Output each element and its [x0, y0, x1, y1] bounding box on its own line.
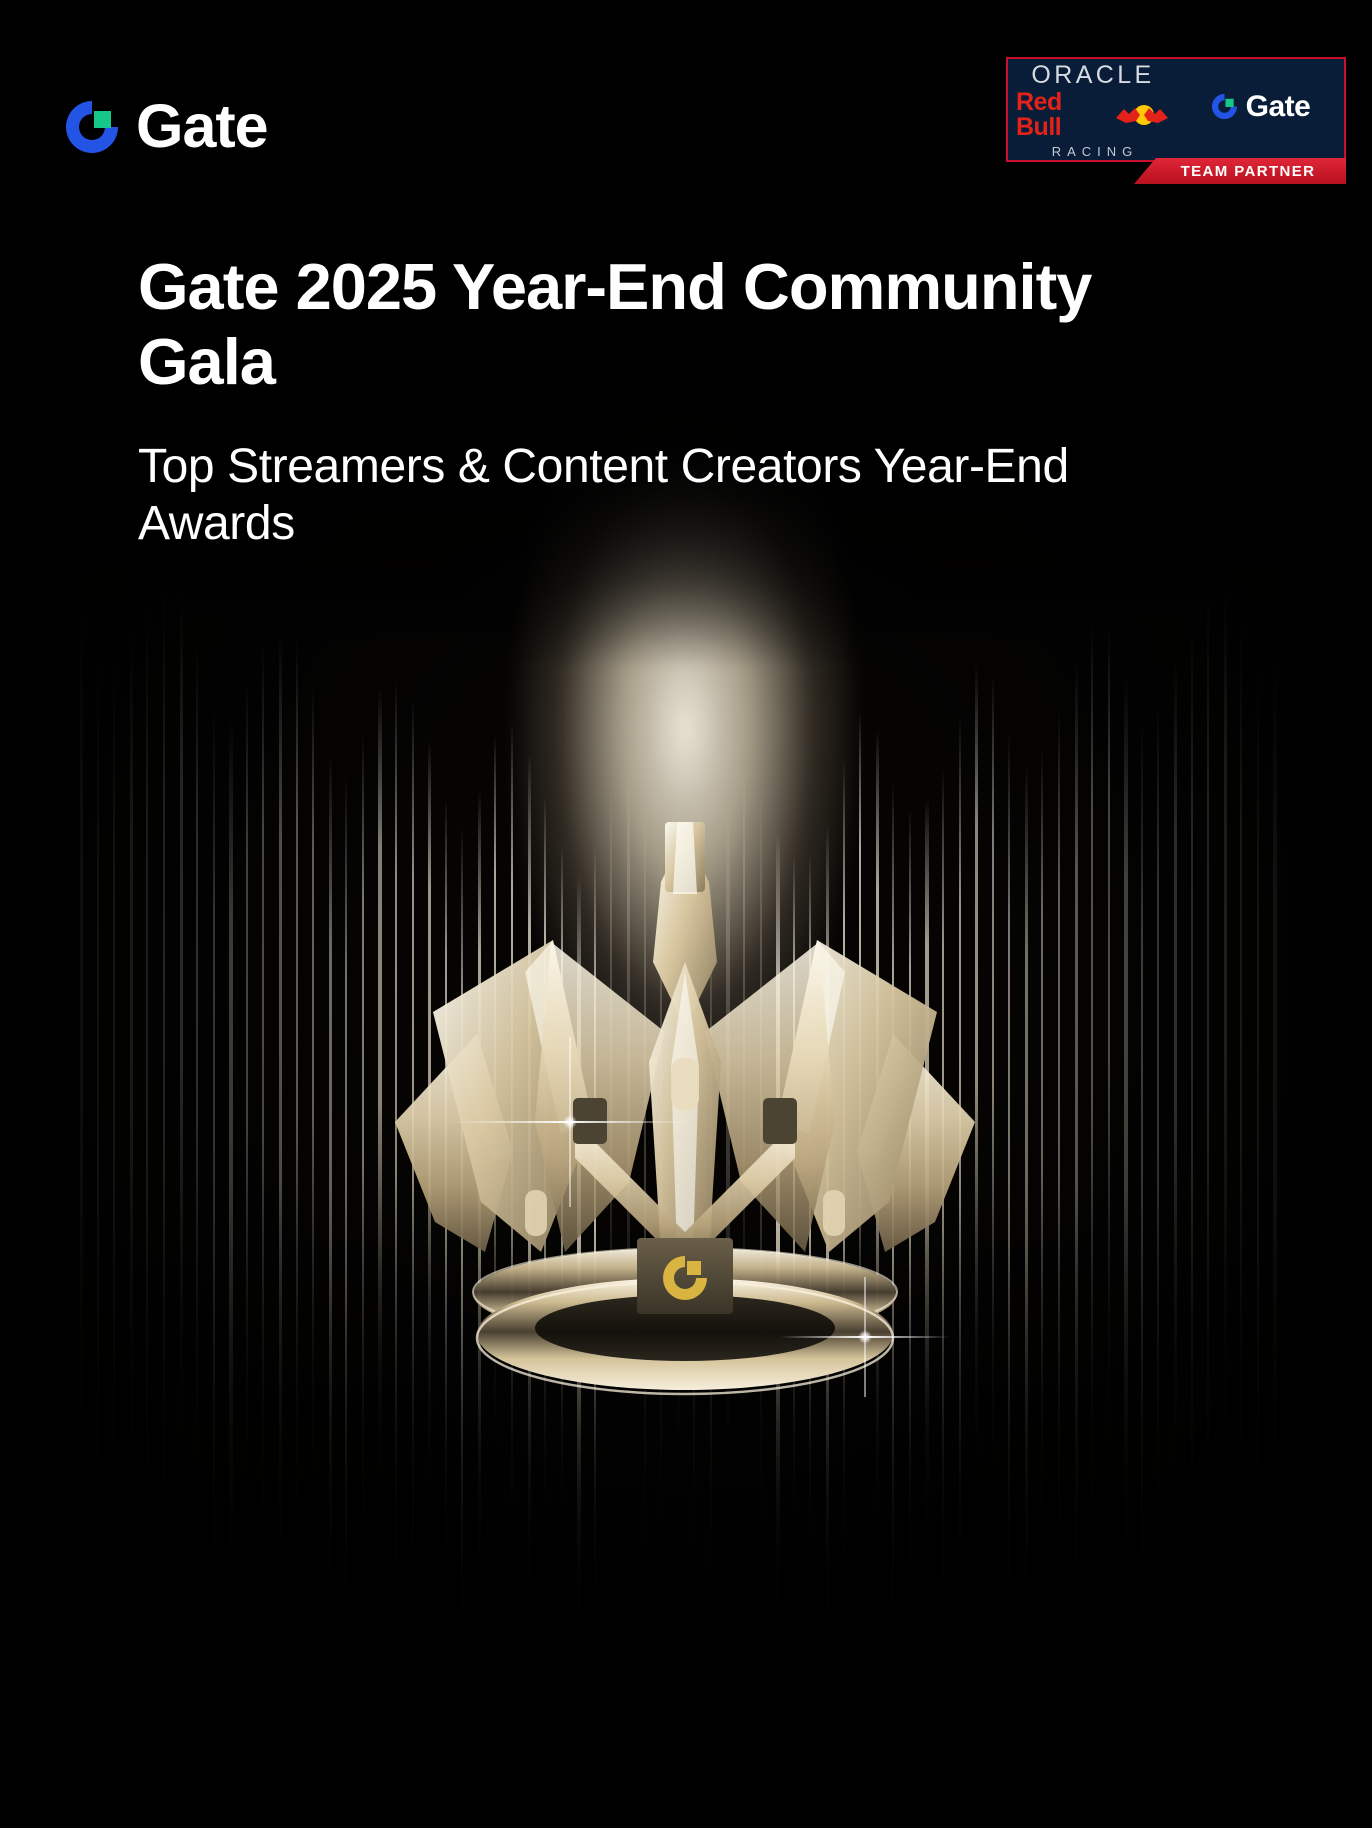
racing-text: RACING — [1048, 145, 1139, 158]
page-title: Gate 2025 Year-End Community Gala — [138, 249, 1232, 400]
page-header: Gate ORACLE Red Bull — [0, 0, 1372, 200]
gate-logo-icon — [62, 97, 122, 157]
team-partner-banner: TEAM PARTNER — [1134, 158, 1346, 184]
card-text-block: Gate 2025 Year-End Community Gala Top St… — [80, 197, 1290, 553]
badge-gate-lockup: Gate — [1176, 59, 1344, 160]
red-bull-text: Red Bull — [1016, 90, 1111, 140]
charging-bulls-icon — [1114, 102, 1170, 128]
crystal-crown-icon — [365, 822, 1005, 1442]
oracle-text: ORACLE — [1031, 63, 1154, 88]
red-bull-row: Red Bull — [1016, 90, 1170, 140]
gate-wordmark: Gate — [136, 96, 268, 157]
event-hero-card[interactable]: Gate 2025 Year-End Community Gala Top St… — [80, 197, 1290, 1690]
oracle-red-bull-racing-partner-badge: ORACLE Red Bull RACING — [1006, 57, 1346, 184]
gate-brand-logo[interactable]: Gate — [62, 96, 268, 157]
gate-logo-icon-small — [1210, 92, 1239, 121]
promo-page: Gate ORACLE Red Bull — [0, 0, 1372, 1828]
red-bull-racing-lockup: ORACLE Red Bull RACING — [1008, 59, 1176, 160]
page-subtitle: Top Streamers & Content Creators Year-En… — [138, 438, 1232, 553]
badge-body: ORACLE Red Bull RACING — [1006, 57, 1346, 162]
team-partner-label: TEAM PARTNER — [1165, 163, 1316, 180]
badge-gate-wordmark: Gate — [1246, 90, 1311, 124]
